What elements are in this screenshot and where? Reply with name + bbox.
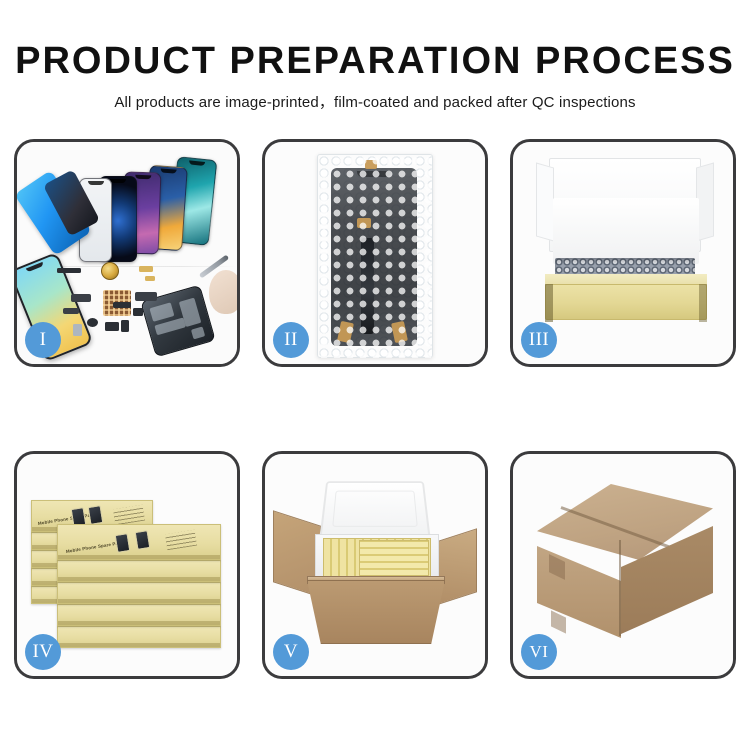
stacked-box-printed: Mobile Phone Spare Parts: [57, 524, 221, 560]
stacked-box: [57, 604, 221, 626]
flex-cable-part: [71, 294, 91, 302]
step-badge-5: V: [273, 634, 309, 670]
small-part: [133, 308, 143, 316]
product-preparation-infographic: PRODUCT PREPARATION PROCESS All products…: [0, 0, 750, 750]
small-part: [87, 318, 98, 327]
panel-stacked-boxes[interactable]: Mobile Phone Spare Parts Mobile Phone Sp…: [14, 451, 240, 679]
box-label-screen-image: [135, 530, 151, 550]
notch-icon: [189, 160, 205, 166]
kraft-box-base: [545, 284, 707, 320]
foam-backing: [553, 198, 699, 264]
small-part: [121, 320, 129, 332]
box-edge: [58, 599, 220, 603]
step-badge-1: I: [25, 322, 61, 358]
panel-open-yellow-box[interactable]: III: [510, 139, 736, 367]
technician-hand: [209, 270, 237, 314]
box-label-lines: [113, 505, 145, 525]
housing-detail: [149, 302, 174, 322]
small-part: [105, 322, 119, 331]
box-edge: [58, 621, 220, 625]
stacked-box: [57, 582, 221, 604]
notch-icon: [88, 181, 104, 185]
step-badge-6: VI: [521, 634, 557, 670]
carton-body: [307, 580, 445, 644]
stacked-box: [57, 560, 221, 582]
flex-cable-part: [63, 308, 79, 314]
step-badge-4: IV: [25, 634, 61, 670]
box-label-screen-image: [115, 533, 131, 553]
page-title: PRODUCT PREPARATION PROCESS: [0, 38, 750, 84]
panel-carton-with-foam[interactable]: V: [262, 451, 488, 679]
yellow-boxes-row: [359, 540, 429, 576]
flex-cable-part: [135, 292, 157, 301]
screen-flex-cable: [361, 238, 374, 334]
gold-coil-part: [101, 262, 119, 280]
step-badge-2: II: [273, 322, 309, 358]
small-part: [57, 268, 81, 273]
box-stack: Mobile Phone Spare Parts Mobile Phone Sp…: [29, 474, 233, 662]
tape-strip: [365, 160, 377, 169]
process-panel-grid: I II III: [14, 139, 736, 691]
header: PRODUCT PREPARATION PROCESS All products…: [0, 38, 750, 113]
panel-sealed-carton[interactable]: VI: [510, 451, 736, 679]
gold-contact-part: [139, 266, 153, 272]
panel-bubble-wrapped-screen[interactable]: II: [262, 139, 488, 367]
box-label-screen-image: [88, 505, 104, 525]
page-subtitle: All products are image-printed，film-coat…: [0, 93, 750, 113]
box-edge: [58, 555, 220, 559]
notch-icon: [160, 169, 176, 174]
box-label-lines: [165, 530, 197, 550]
housing-detail: [191, 326, 205, 339]
notch-icon: [135, 175, 151, 180]
wrapped-lcd-screen: [331, 168, 417, 346]
small-part: [113, 302, 131, 308]
notch-icon: [110, 179, 126, 183]
stacked-box: [57, 626, 221, 648]
step-badge-3: III: [521, 322, 557, 358]
gold-contact-part: [145, 276, 155, 281]
carton-vertical-edge: [619, 540, 621, 636]
small-part: [73, 324, 82, 336]
foam-lid: [319, 481, 430, 538]
panel-parts-overview[interactable]: I: [14, 139, 240, 367]
box-edge: [58, 577, 220, 581]
tape-strip: [357, 218, 371, 228]
box-edge: [58, 643, 220, 647]
notch-icon: [26, 262, 44, 272]
